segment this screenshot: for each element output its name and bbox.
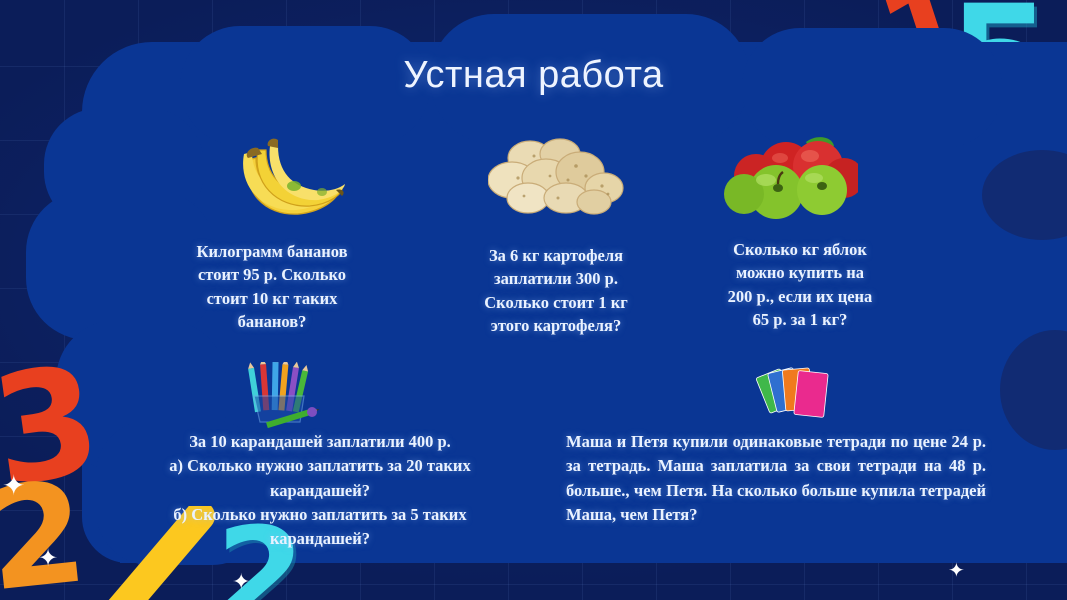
slide-canvas: 1 5 4 2 [0, 0, 1067, 600]
task-bananas: Килограмм бананов стоит 95 р. Сколько ст… [148, 240, 396, 334]
potatoes-image [488, 136, 624, 222]
task-pencils: За 10 карандашей заплатили 400 р. а) Ско… [124, 430, 516, 551]
task-notebooks: Маша и Петя купили одинаковые тетради по… [566, 430, 986, 527]
task-apples-text: Сколько кг яблок можно купить на 200 р.,… [692, 238, 908, 332]
colored-pencils-image [238, 362, 326, 428]
slide-content: Устная работа Килограмм бананов стоит 9 [0, 0, 1067, 600]
notebooks-image [756, 364, 844, 426]
task-notebooks-text: Маша и Петя купили одинаковые тетради по… [566, 430, 986, 527]
task-pencils-text: За 10 карандашей заплатили 400 р. а) Ско… [124, 430, 516, 551]
task-apples: Сколько кг яблок можно купить на 200 р.,… [692, 238, 908, 332]
task-potatoes-text: За 6 кг картофеля заплатили 300 р. Сколь… [438, 244, 674, 338]
bananas-image [218, 134, 348, 226]
apples-image [722, 132, 858, 224]
page-title: Устная работа [0, 54, 1067, 97]
task-potatoes: За 6 кг картофеля заплатили 300 р. Сколь… [438, 244, 674, 338]
task-bananas-text: Килограмм бананов стоит 95 р. Сколько ст… [148, 240, 396, 334]
